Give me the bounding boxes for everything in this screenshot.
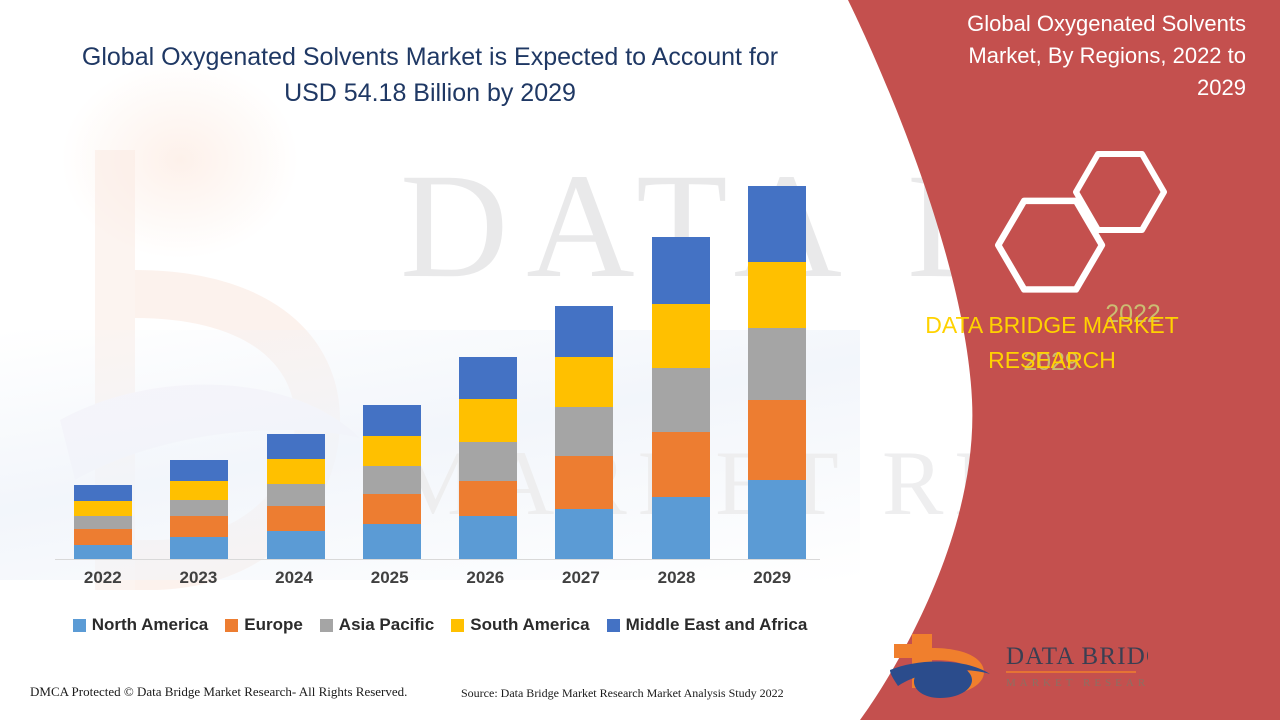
bar-segment[interactable]	[267, 484, 325, 506]
bar-group	[55, 164, 825, 559]
bar-segment[interactable]	[267, 506, 325, 531]
bar-segment[interactable]	[459, 516, 517, 559]
bar-segment[interactable]	[652, 497, 710, 559]
copyright-text: DMCA Protected © Data Bridge Market Rese…	[30, 684, 407, 700]
brand-name: DATA BRIDGE MARKET RESEARCH	[832, 308, 1272, 377]
bar-slot	[729, 164, 825, 559]
legend-swatch-icon	[607, 619, 620, 632]
bar-segment[interactable]	[555, 509, 613, 559]
hexagon-outlines-icon	[968, 140, 1198, 295]
x-axis-tick-label: 2029	[724, 563, 820, 593]
x-axis-tick-label: 2022	[55, 563, 151, 593]
bar-segment[interactable]	[555, 456, 613, 508]
bar-slot	[536, 164, 632, 559]
hexagon-badges: 2029 2022	[968, 140, 1198, 295]
bar-segment[interactable]	[555, 407, 613, 457]
bar-slot	[248, 164, 344, 559]
legend-item[interactable]: Middle East and Africa	[607, 615, 808, 635]
x-axis-tick-label: 2025	[342, 563, 438, 593]
bar-segment[interactable]	[459, 357, 517, 400]
bar-segment[interactable]	[555, 306, 613, 357]
source-text: Source: Data Bridge Market Research Mark…	[461, 686, 784, 701]
stacked-bar[interactable]	[267, 434, 325, 559]
bar-slot	[633, 164, 729, 559]
bar-slot	[55, 164, 151, 559]
bar-segment[interactable]	[459, 481, 517, 517]
bar-segment[interactable]	[170, 537, 228, 559]
stacked-bar[interactable]	[74, 485, 132, 559]
bar-segment[interactable]	[267, 459, 325, 484]
stacked-bar[interactable]	[363, 405, 421, 559]
bar-segment[interactable]	[459, 442, 517, 481]
panel-title: Global Oxygenated Solvents Market, By Re…	[926, 8, 1246, 104]
legend-label: Asia Pacific	[339, 615, 434, 635]
legend-swatch-icon	[320, 619, 333, 632]
bar-segment[interactable]	[267, 434, 325, 459]
stacked-bar[interactable]	[555, 306, 613, 559]
bar-segment[interactable]	[652, 304, 710, 369]
bar-segment[interactable]	[748, 262, 806, 328]
bar-segment[interactable]	[74, 516, 132, 528]
x-axis-line	[55, 559, 820, 560]
bar-segment[interactable]	[555, 357, 613, 407]
legend-label: Middle East and Africa	[626, 615, 808, 635]
bar-segment[interactable]	[74, 545, 132, 559]
bar-slot	[151, 164, 247, 559]
bar-segment[interactable]	[748, 328, 806, 400]
legend-label: Europe	[244, 615, 303, 635]
bar-segment[interactable]	[748, 400, 806, 480]
bar-segment[interactable]	[74, 501, 132, 516]
legend-label: North America	[92, 615, 209, 635]
bar-slot	[344, 164, 440, 559]
legend-item[interactable]: Europe	[225, 615, 303, 635]
bar-segment[interactable]	[748, 186, 806, 262]
legend-item[interactable]: South America	[451, 615, 589, 635]
bar-segment[interactable]	[74, 529, 132, 545]
stacked-bar[interactable]	[652, 237, 710, 559]
brand-panel-content: Global Oxygenated Solvents Market, By Re…	[820, 0, 1280, 720]
bar-segment[interactable]	[652, 237, 710, 303]
bar-segment[interactable]	[363, 524, 421, 559]
bar-segment[interactable]	[459, 399, 517, 442]
bar-segment[interactable]	[170, 481, 228, 500]
chart-pane: Global Oxygenated Solvents Market is Exp…	[0, 0, 860, 720]
logo-name-bottom: MARKET RESEARCH	[1006, 677, 1148, 689]
legend-label: South America	[470, 615, 589, 635]
chart-title: Global Oxygenated Solvents Market is Exp…	[60, 40, 800, 111]
bar-segment[interactable]	[363, 494, 421, 524]
bar-segment[interactable]	[363, 405, 421, 436]
dbmr-logo: DATA BRIDGE MARKET RESEARCH	[888, 630, 1148, 700]
brand-line-1: DATA BRIDGE MARKET	[832, 308, 1272, 343]
x-axis-tick-label: 2023	[151, 563, 247, 593]
bar-segment[interactable]	[170, 500, 228, 517]
legend-swatch-icon	[73, 619, 86, 632]
stacked-bar[interactable]	[170, 460, 228, 559]
bar-segment[interactable]	[652, 368, 710, 432]
legend-item[interactable]: North America	[73, 615, 209, 635]
bar-segment[interactable]	[170, 460, 228, 481]
legend-swatch-icon	[225, 619, 238, 632]
bar-segment[interactable]	[748, 480, 806, 559]
x-axis-tick-label: 2024	[246, 563, 342, 593]
x-axis-labels: 20222023202420252026202720282029	[55, 563, 820, 593]
bar-segment[interactable]	[74, 485, 132, 501]
infographic-canvas: DATA BRIDGE MARKET RESEARCH Global Oxyge…	[0, 0, 1280, 720]
bar-slot	[440, 164, 536, 559]
logo-name-top: DATA BRIDGE	[1006, 643, 1148, 670]
chart-plot-area	[55, 150, 825, 560]
stacked-bar[interactable]	[748, 186, 806, 559]
bar-segment[interactable]	[652, 432, 710, 497]
legend-item[interactable]: Asia Pacific	[320, 615, 434, 635]
legend-swatch-icon	[451, 619, 464, 632]
stacked-bar[interactable]	[459, 357, 517, 559]
bar-segment[interactable]	[267, 531, 325, 559]
bar-segment[interactable]	[363, 436, 421, 466]
brand-panel: Global Oxygenated Solvents Market, By Re…	[820, 0, 1280, 720]
x-axis-tick-label: 2027	[533, 563, 629, 593]
x-axis-tick-label: 2026	[438, 563, 534, 593]
bar-segment[interactable]	[170, 516, 228, 537]
chart-legend: North AmericaEuropeAsia PacificSouth Ame…	[55, 615, 825, 635]
x-axis-tick-label: 2028	[629, 563, 725, 593]
bar-segment[interactable]	[363, 466, 421, 494]
brand-line-2: RESEARCH	[832, 343, 1272, 378]
